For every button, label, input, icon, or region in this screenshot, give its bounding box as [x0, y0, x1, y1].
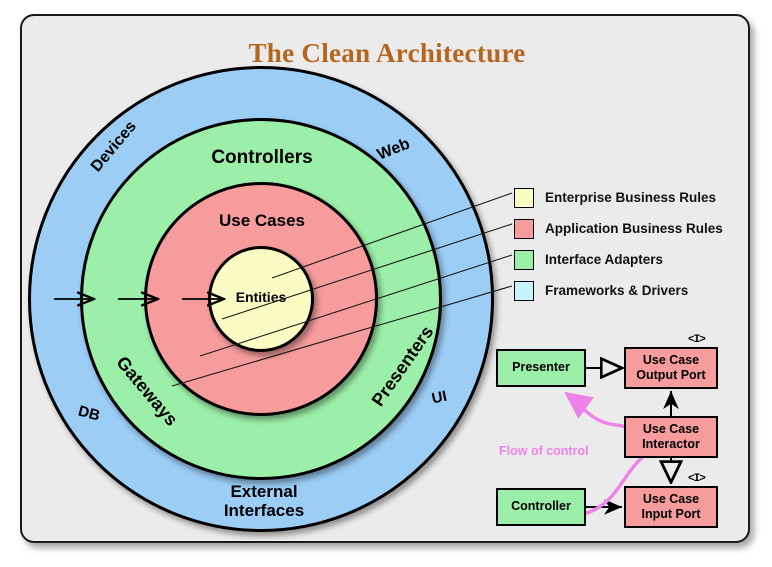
flow-box-use-case-output-port[interactable]: Use Case Output Port	[624, 347, 718, 389]
flow-box-use-case-input-port-label: Use Case Input Port	[641, 492, 700, 523]
legend-swatch-frameworks-and-drivers	[514, 281, 534, 301]
flow-box-use-case-input-port[interactable]: Use Case Input Port	[624, 486, 718, 528]
interface-marker-output-port: <I>	[688, 334, 705, 346]
input-port-line-2: Input Port	[641, 507, 700, 521]
flow-box-controller-label: Controller	[511, 499, 571, 514]
output-port-line-2: Output Port	[636, 368, 705, 382]
flow-box-presenter-label: Presenter	[512, 360, 570, 375]
legend-label-application-business-rules: Application Business Rules	[545, 221, 723, 236]
diagram-canvas: The Clean Architecture Controllers Use C…	[20, 14, 750, 543]
legend: Enterprise Business Rules Application Bu…	[514, 182, 749, 306]
flow-of-control-label: Flow of control	[499, 444, 589, 458]
legend-item-frameworks-and-drivers[interactable]: Frameworks & Drivers	[514, 275, 749, 306]
legend-item-application-business-rules[interactable]: Application Business Rules	[514, 213, 749, 244]
interactor-line-1: Use Case	[643, 422, 699, 436]
flow-box-controller[interactable]: Controller	[496, 488, 586, 526]
legend-item-interface-adapters[interactable]: Interface Adapters	[514, 244, 749, 275]
legend-swatch-enterprise-business-rules	[514, 188, 534, 208]
page-title: The Clean Architecture	[22, 38, 750, 69]
interface-marker-input-port: <I>	[688, 473, 705, 485]
flow-box-use-case-interactor[interactable]: Use Case Interactor	[624, 416, 718, 458]
ring-enterprise-business-rules[interactable]	[208, 246, 314, 352]
legend-label-interface-adapters: Interface Adapters	[545, 252, 663, 267]
flow-box-presenter[interactable]: Presenter	[496, 349, 586, 387]
interactor-line-2: Interactor	[642, 437, 700, 451]
legend-swatch-interface-adapters	[514, 250, 534, 270]
legend-label-enterprise-business-rules: Enterprise Business Rules	[545, 190, 716, 205]
legend-item-enterprise-business-rules[interactable]: Enterprise Business Rules	[514, 182, 749, 213]
diagram-stage: The Clean Architecture Controllers Use C…	[0, 0, 772, 567]
input-port-line-1: Use Case	[643, 492, 699, 506]
output-port-line-1: Use Case	[643, 353, 699, 367]
flow-box-use-case-interactor-label: Use Case Interactor	[642, 422, 700, 453]
flow-box-use-case-output-port-label: Use Case Output Port	[636, 353, 705, 384]
legend-label-frameworks-and-drivers: Frameworks & Drivers	[545, 283, 688, 298]
legend-swatch-application-business-rules	[514, 219, 534, 239]
